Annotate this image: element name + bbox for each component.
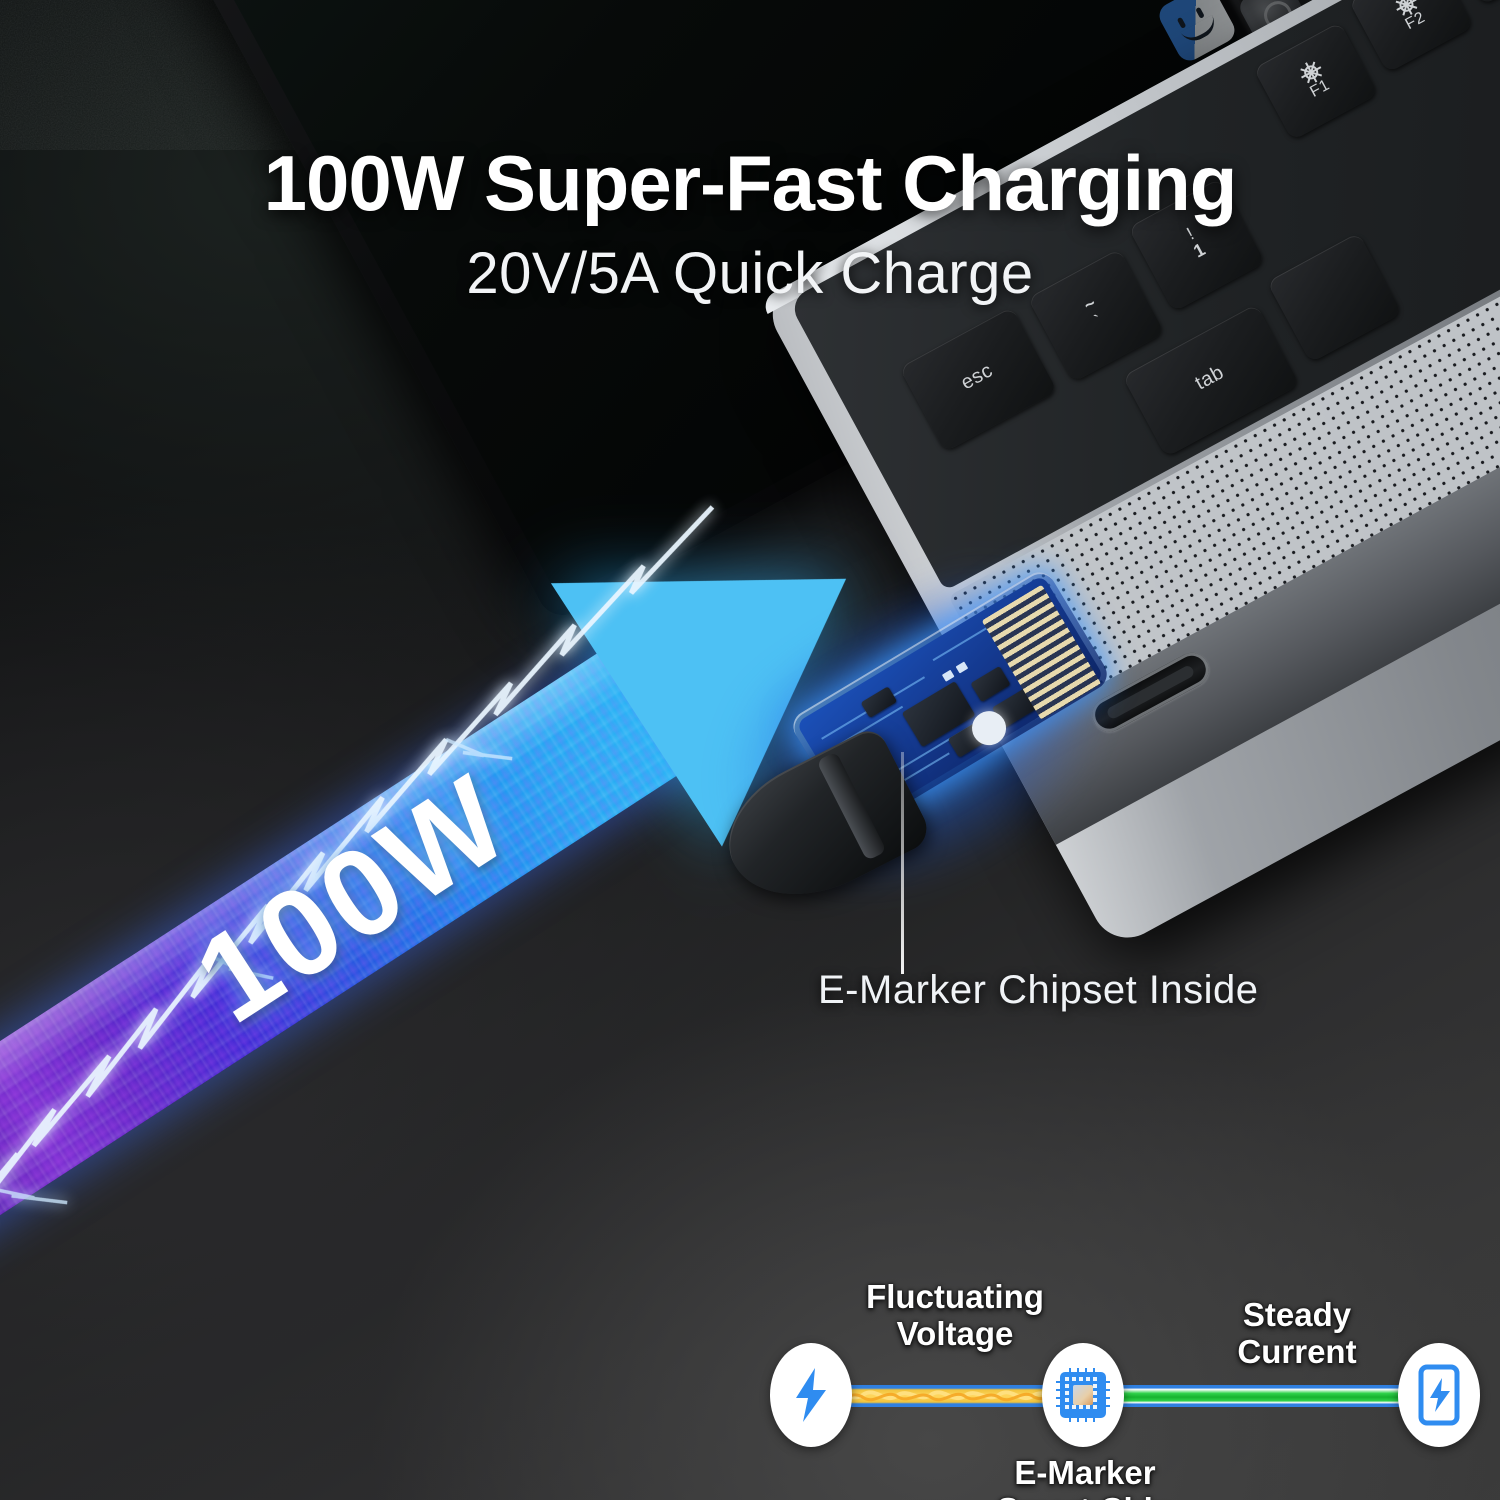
arrow-wattage-label: 100W (79, 686, 627, 1112)
label-steady-line2: Current (1182, 1334, 1412, 1371)
key-esc[interactable]: esc (899, 307, 1057, 452)
pcb-chip (970, 666, 1010, 702)
key-tab-label: tab (1191, 361, 1228, 395)
finder-eye-left (1177, 17, 1187, 29)
power-flow-diagram: Fluctuating Voltage E-Marker Smart Chip … (770, 1285, 1480, 1500)
key-esc-label: esc (957, 359, 997, 395)
key-f2[interactable]: F2 (1349, 0, 1474, 73)
label-fluctuating-line2: Voltage (840, 1316, 1070, 1353)
smart-chip-icon (1054, 1366, 1112, 1424)
finder-eye-right (1195, 7, 1205, 19)
phone-charging-icon (1417, 1364, 1461, 1426)
label-fluctuating-line1: Fluctuating (840, 1279, 1070, 1316)
product-marketing-image: F1 F2 esc ~` !1 ta (0, 0, 1500, 1500)
label-chip-line2: Smart Chip (960, 1492, 1210, 1500)
page-title: 100W Super-Fast Charging (0, 138, 1500, 229)
node-fluctuating-source (770, 1343, 852, 1447)
node-emarker-chip (1042, 1343, 1124, 1447)
emarker-callout-label: E-Marker Chipset Inside (818, 968, 1259, 1013)
label-chip-line1: E-Marker (960, 1455, 1210, 1492)
callout-leader-line (901, 752, 904, 974)
key-f1-label: F1 (1307, 76, 1333, 101)
steady-current-wire (1110, 1385, 1410, 1407)
node-device-charging (1398, 1343, 1480, 1447)
fluctuating-wave (830, 1385, 1056, 1407)
finder-smile (1180, 15, 1219, 46)
key-f1[interactable]: F1 (1253, 22, 1378, 141)
label-emarker-smart-chip: E-Marker Smart Chip (960, 1455, 1210, 1500)
fluctuating-voltage-wire (830, 1385, 1056, 1407)
page-subtitle: 20V/5A Quick Charge (0, 240, 1500, 307)
label-fluctuating-voltage: Fluctuating Voltage (840, 1279, 1070, 1353)
label-steady-line1: Steady (1182, 1297, 1412, 1334)
label-steady-current: Steady Current (1182, 1297, 1412, 1371)
lightning-bolt-icon (790, 1366, 832, 1424)
key-f2-label: F2 (1402, 8, 1428, 33)
